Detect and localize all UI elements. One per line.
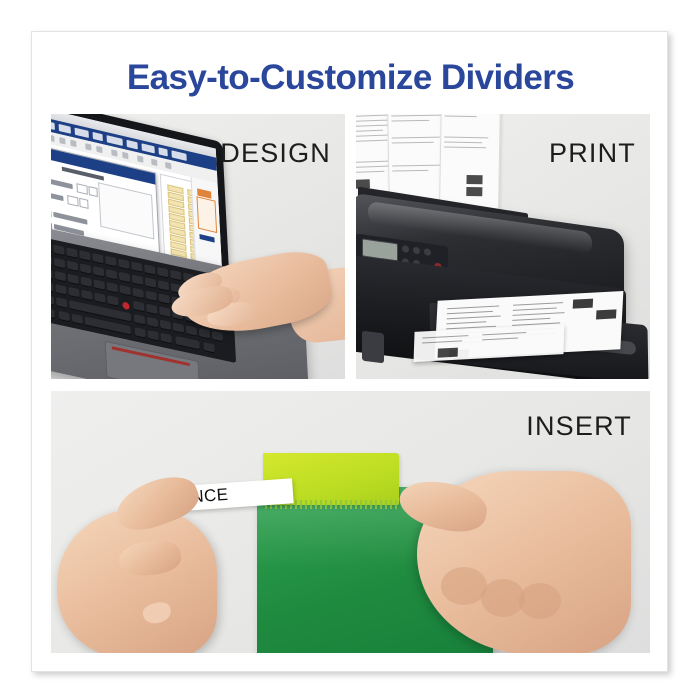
right-hand [381,443,631,653]
panel-design: DESIGN [51,114,345,379]
dialog-preview-box [98,182,154,239]
panel-insert: FINANCE [51,391,650,653]
dialog-checkbox-label [53,212,87,225]
page-title: Easy-to-Customize Dividers [32,58,669,98]
preview-card-outline [196,196,217,233]
screenshot-canvas: Easy-to-Customize Dividers [0,0,700,700]
trackpoint-nub [122,302,129,311]
dialog-field-label [51,177,73,189]
dialog-field-stepper [88,186,97,197]
printer-button [424,248,431,256]
preview-action-chip [199,234,214,243]
printer-side-grip [362,331,384,364]
printer-button [402,245,409,253]
printer-button [413,247,420,255]
dialog-field-stepper [79,198,88,209]
left-hand-palm [57,509,217,653]
panel-label-print: PRINT [549,138,636,169]
left-hand [57,475,247,653]
hand-on-keyboard [163,245,345,365]
panel-label-design: DESIGN [220,138,331,169]
panel-print: PRINT [356,114,650,379]
dialog-checkbox [51,210,52,217]
dialog-field-input [76,183,87,195]
product-image-card: Easy-to-Customize Dividers [31,31,668,672]
panel-label-insert: INSERT [526,411,632,442]
dialog-field-input [67,195,78,207]
dialog-field-label [51,191,64,201]
